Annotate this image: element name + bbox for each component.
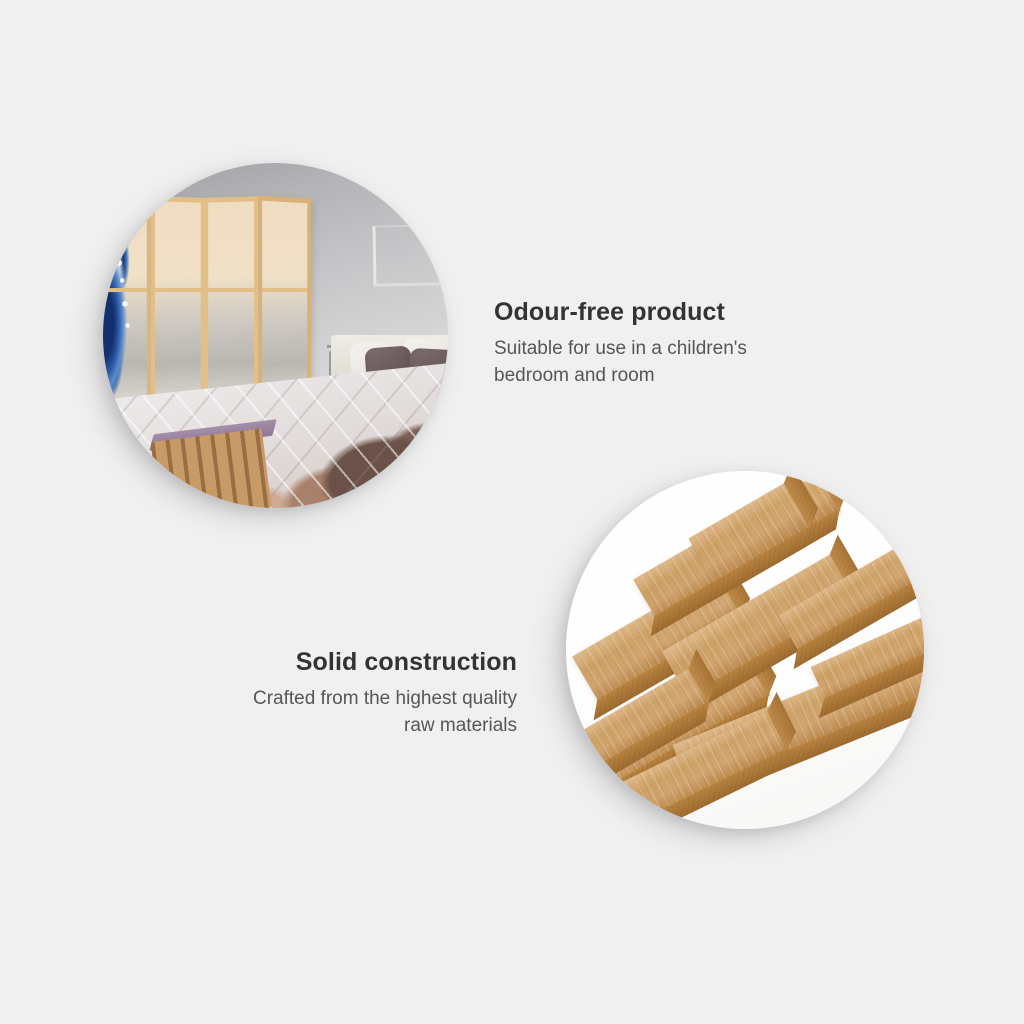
screen-panel	[103, 195, 150, 404]
feature-description-line-1: Suitable for use in a children's	[494, 336, 854, 363]
screen-panel	[204, 196, 257, 402]
bedroom-with-folding-screen-photo	[103, 163, 448, 508]
feature-odour-free: Odour-free product Suitable for use in a…	[494, 298, 854, 390]
feature-title: Solid construction	[155, 648, 517, 677]
great-wave-artwork	[208, 201, 253, 398]
great-wave-artwork	[262, 201, 307, 400]
bedroom-scene	[103, 163, 448, 508]
wall-moulding	[372, 224, 442, 286]
stacked-timber-photo	[566, 471, 924, 829]
great-wave-artwork	[154, 201, 199, 398]
feature-description-line-2: raw materials	[155, 713, 517, 740]
feature-description-line-1: Crafted from the highest quality	[155, 686, 517, 713]
wicker-nightstand	[151, 428, 272, 508]
feature-title: Odour-free product	[494, 298, 854, 327]
feature-description-line-2: bedroom and room	[494, 363, 854, 390]
timber-scene	[566, 471, 924, 829]
great-wave-artwork	[103, 201, 146, 400]
infographic-canvas: Odour-free product Suitable for use in a…	[0, 0, 1024, 1024]
screen-panel	[150, 196, 203, 403]
screen-panel	[258, 195, 311, 403]
feature-solid-construction: Solid construction Crafted from the high…	[155, 648, 517, 740]
japanese-folding-screen	[103, 197, 311, 402]
